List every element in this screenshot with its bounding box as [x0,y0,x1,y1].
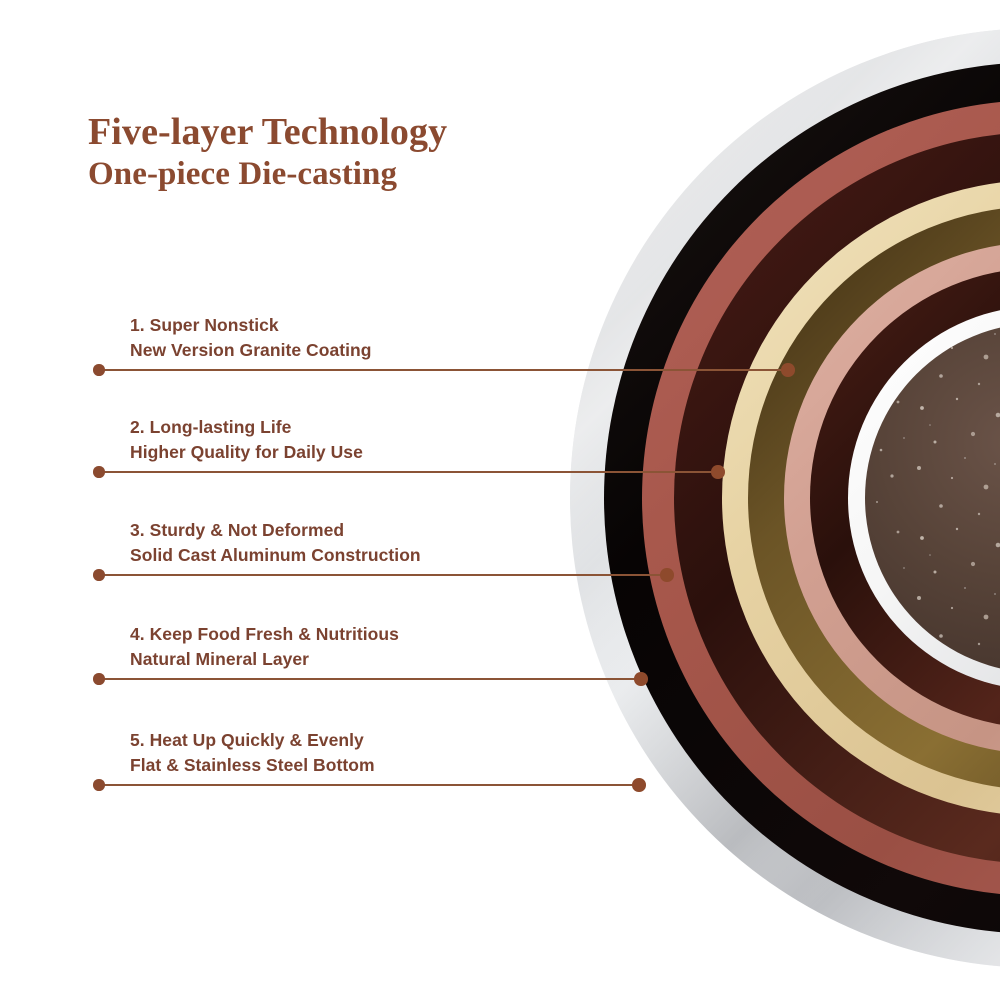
feature-start-dot-5 [93,779,105,791]
feature-leader-line-5 [99,784,639,786]
feature-subtitle-5: Flat & Stainless Steel Bottom [130,753,375,778]
feature-callout-5: 5. Heat Up Quickly & EvenlyFlat & Stainl… [0,0,1000,786]
feature-text-5: 5. Heat Up Quickly & EvenlyFlat & Stainl… [130,728,375,778]
feature-end-dot-5 [632,778,646,792]
feature-title-5: 5. Heat Up Quickly & Evenly [130,728,375,753]
infographic-canvas: Five-layer Technology One-piece Die-cast… [0,0,1000,1000]
